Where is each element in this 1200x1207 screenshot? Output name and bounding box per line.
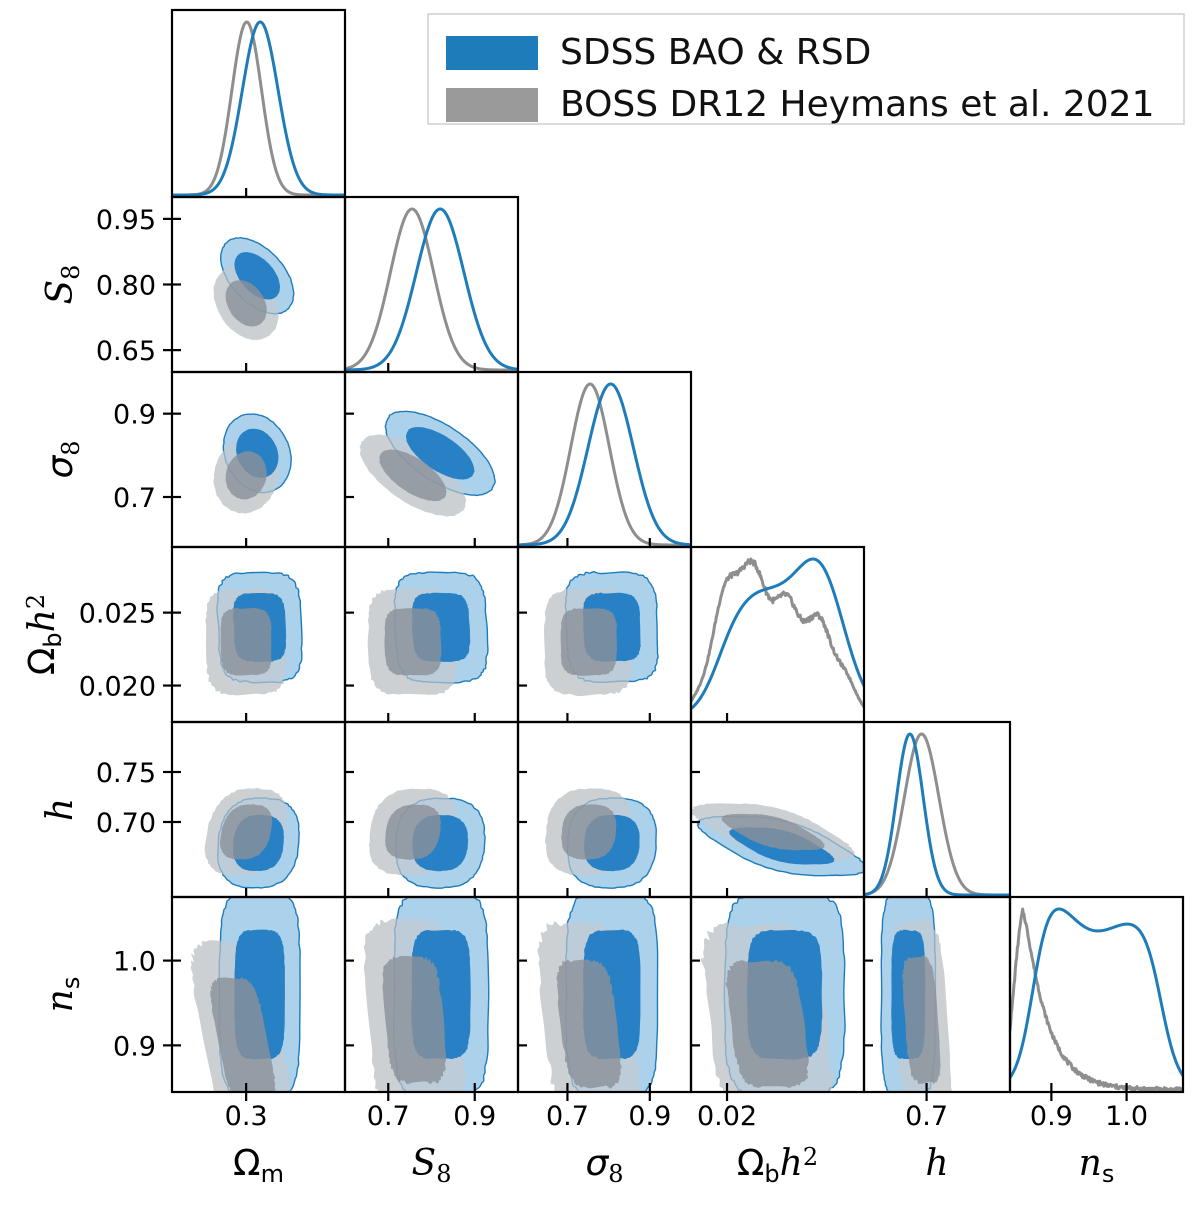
panel-Obh2-ns bbox=[701, 891, 845, 1125]
panel-Obh2-Obh2 bbox=[691, 559, 864, 709]
panel-sigma8-h bbox=[545, 788, 656, 888]
panel-h-ns bbox=[881, 890, 952, 1122]
marginal-blue-Om bbox=[172, 22, 345, 195]
axes-layer bbox=[163, 10, 1183, 1101]
panel-S8-ns bbox=[364, 891, 489, 1122]
ytick-label-Obh2-1: 0.025 bbox=[79, 599, 156, 630]
legend-label-0: SDSS BAO & RSD bbox=[560, 32, 871, 73]
xaxis-label-Om: Ωm bbox=[233, 1143, 284, 1188]
marginal-gray-ns bbox=[1010, 909, 1183, 1090]
marginal-gray-S8 bbox=[345, 209, 518, 370]
svg-text:Ωm: Ωm bbox=[233, 1143, 284, 1188]
panel-Om-h bbox=[205, 788, 299, 888]
legend: SDSS BAO & RSDBOSS DR12 Heymans et al. 2… bbox=[428, 14, 1184, 125]
contour-layer bbox=[172, 22, 1183, 1144]
xtick-label-ns-0: 0.9 bbox=[1030, 1101, 1073, 1132]
yaxis-label-h: h bbox=[40, 798, 81, 821]
yaxis-label-Obh2: Ωbh2 bbox=[22, 594, 67, 675]
panel-frame-Om-Om bbox=[172, 10, 345, 197]
marginal-blue-Obh2 bbox=[691, 559, 864, 709]
xtick-label-S8-0: 0.7 bbox=[367, 1101, 410, 1132]
ytick-label-ns-0: 0.9 bbox=[113, 1031, 156, 1062]
panel-Om-Om bbox=[172, 22, 345, 195]
panel-Om-Obh2 bbox=[205, 572, 302, 695]
marginal-gray-Obh2 bbox=[691, 559, 864, 707]
xaxis-label-S8: S8 bbox=[412, 1143, 452, 1188]
xaxis-label-sigma8: σ8 bbox=[585, 1143, 623, 1188]
legend-swatch-0 bbox=[446, 36, 538, 70]
ytick-label-S8-0: 0.65 bbox=[96, 336, 156, 367]
panel-frame-ns-ns bbox=[1010, 897, 1183, 1092]
marginal-blue-sigma8 bbox=[518, 384, 691, 545]
contour-gray-68 bbox=[561, 608, 617, 676]
panel-frame-sigma8-sigma8 bbox=[518, 372, 691, 547]
legend-label-1: BOSS DR12 Heymans et al. 2021 bbox=[560, 84, 1154, 125]
contour-gray-68 bbox=[220, 608, 271, 676]
xaxis-label-h: h bbox=[925, 1143, 948, 1184]
svg-text:h: h bbox=[40, 798, 81, 821]
ytick-label-h-0: 0.70 bbox=[96, 808, 156, 839]
xtick-label-Om-0: 0.3 bbox=[225, 1101, 268, 1132]
xtick-label-h-0: 0.7 bbox=[905, 1101, 948, 1132]
marginal-blue-h bbox=[864, 734, 1010, 895]
plot-canvas: 0.30.70.90.70.90.020.70.91.00.650.800.95… bbox=[0, 0, 1200, 1207]
svg-text:ns: ns bbox=[1079, 1143, 1115, 1188]
panel-S8-Obh2 bbox=[368, 572, 488, 695]
ytick-label-S8-1: 0.80 bbox=[96, 271, 156, 302]
ytick-label-sigma8-0: 0.7 bbox=[113, 483, 156, 514]
svg-text:Ωbh2: Ωbh2 bbox=[22, 594, 67, 675]
marginal-blue-ns bbox=[1010, 909, 1183, 1078]
svg-text:Ωbh2: Ωbh2 bbox=[737, 1143, 818, 1188]
panel-ns-ns bbox=[1010, 909, 1183, 1090]
xtick-label-sigma8-0: 0.7 bbox=[546, 1101, 589, 1132]
ytick-label-h-1: 0.75 bbox=[96, 758, 156, 789]
panel-frame-Obh2-Obh2 bbox=[691, 547, 864, 722]
marginal-gray-sigma8 bbox=[518, 384, 691, 545]
ytick-label-Obh2-0: 0.020 bbox=[79, 672, 156, 703]
xtick-label-sigma8-1: 0.9 bbox=[628, 1101, 671, 1132]
yaxis-label-sigma8: σ8 bbox=[40, 440, 85, 478]
ytick-label-S8-2: 0.95 bbox=[96, 205, 156, 236]
yaxis-label-S8: S8 bbox=[40, 265, 85, 305]
svg-text:S8: S8 bbox=[40, 265, 85, 305]
panel-sigma8-Obh2 bbox=[544, 572, 658, 696]
svg-text:ns: ns bbox=[40, 977, 85, 1013]
panel-sigma8-sigma8 bbox=[518, 384, 691, 545]
xaxis-label-ns: ns bbox=[1079, 1143, 1115, 1188]
svg-text:h: h bbox=[925, 1143, 948, 1184]
xtick-label-Obh2-0: 0.02 bbox=[697, 1101, 757, 1132]
ytick-label-ns-1: 1.0 bbox=[113, 947, 156, 978]
marginal-gray-Om bbox=[172, 22, 345, 195]
xaxis-label-Obh2: Ωbh2 bbox=[737, 1143, 818, 1188]
panel-h-h bbox=[864, 734, 1010, 895]
panel-S8-h bbox=[369, 789, 485, 889]
contour-gray-68 bbox=[384, 608, 441, 675]
xtick-label-S8-1: 0.9 bbox=[453, 1101, 496, 1132]
contour-gray-68 bbox=[561, 804, 616, 859]
panel-Om-S8 bbox=[214, 238, 294, 340]
panel-S8-S8 bbox=[345, 209, 518, 370]
svg-text:σ8: σ8 bbox=[40, 440, 85, 478]
legend-swatch-1 bbox=[446, 88, 538, 122]
xtick-label-ns-1: 1.0 bbox=[1105, 1101, 1148, 1132]
panel-Obh2-h bbox=[691, 803, 867, 875]
svg-text:σ8: σ8 bbox=[585, 1143, 623, 1188]
ytick-label-sigma8-1: 0.9 bbox=[113, 400, 156, 431]
corner-plot-figure: 0.30.70.90.70.90.020.70.91.00.650.800.95… bbox=[0, 0, 1200, 1207]
panel-S8-sigma8 bbox=[360, 411, 495, 516]
contour-gray-68 bbox=[382, 956, 446, 1084]
yaxis-label-ns: ns bbox=[40, 977, 85, 1013]
panel-Om-sigma8 bbox=[214, 414, 292, 513]
svg-text:S8: S8 bbox=[412, 1143, 452, 1188]
